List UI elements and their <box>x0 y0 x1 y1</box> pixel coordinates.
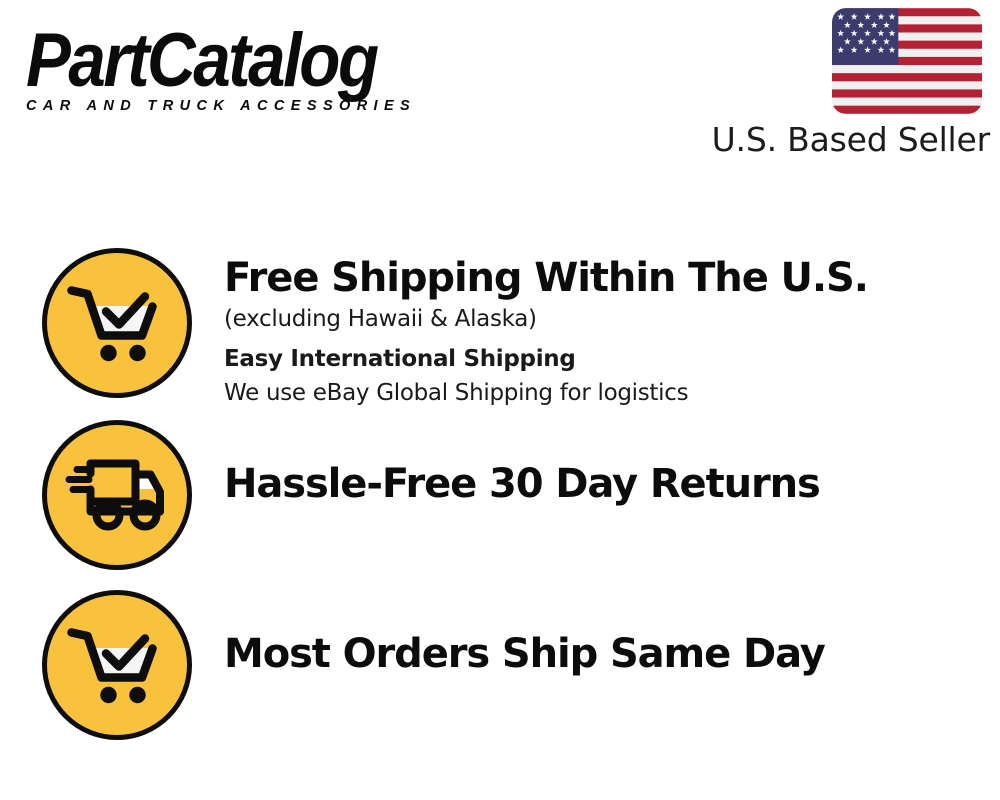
feature-badge-1 <box>42 420 192 570</box>
feature-row-same-day-ship: Most Orders Ship Same Day <box>0 590 1000 740</box>
shopping-cart-check-icon <box>65 273 169 373</box>
feature-badge-0 <box>42 248 192 398</box>
feature-text-2: Most Orders Ship Same Day <box>224 590 1000 678</box>
us-flag-icon <box>832 8 982 114</box>
us-based-seller-label: U.S. Based Seller <box>700 120 990 160</box>
feature-title-0: Free Shipping Within The U.S. <box>224 254 1000 302</box>
feature-title-2: Most Orders Ship Same Day <box>224 630 1000 678</box>
feature-subtitle-0-0: (excluding Hawaii & Alaska) <box>224 302 1000 336</box>
us-based-seller-badge: U.S. Based Seller <box>700 8 990 160</box>
feature-text-1: Hassle-Free 30 Day Returns <box>224 420 1000 508</box>
feature-text-0: Free Shipping Within The U.S. (excluding… <box>224 248 1000 410</box>
brand-wordmark: PartCatalog <box>26 22 491 98</box>
feature-subtitle-0-2: We use eBay Global Shipping for logistic… <box>224 376 1000 410</box>
feature-title-1: Hassle-Free 30 Day Returns <box>224 460 1000 508</box>
feature-row-free-shipping: Free Shipping Within The U.S. (excluding… <box>0 248 1000 410</box>
feature-subtitle-0-1: Easy International Shipping <box>224 342 1000 376</box>
shopping-cart-check-icon <box>65 615 169 715</box>
feature-row-returns: Hassle-Free 30 Day Returns <box>0 420 1000 570</box>
brand-logo[interactable]: PartCatalog CAR AND TRUCK ACCESSORIES <box>26 22 496 114</box>
feature-badge-2 <box>42 590 192 740</box>
delivery-truck-icon <box>65 449 169 541</box>
